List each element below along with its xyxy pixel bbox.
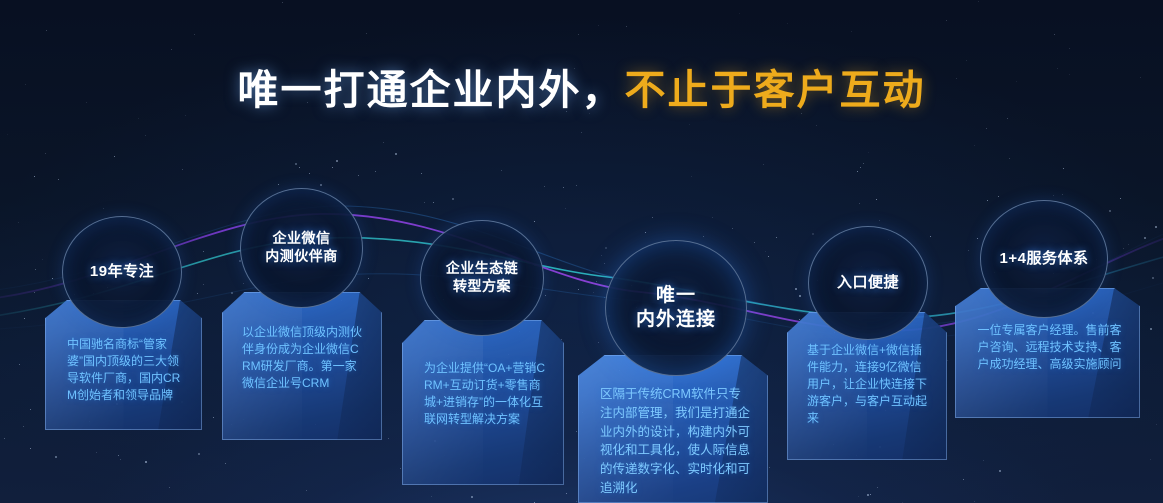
pedestal-text-service-system: 一位专属客户经理。售前客户咨询、远程技术支持、客户成功经理、高级实施顾问 — [973, 322, 1126, 373]
node-wecom-beta-partner[interactable]: 企业微信 内测伙伴商 — [240, 188, 363, 308]
node-label-line: 内测伙伴商 — [265, 248, 338, 266]
node-label-unique-internal-external: 唯一 内外连接 — [605, 240, 747, 376]
node-ring: 企业生态链 转型方案 — [420, 220, 544, 336]
node-service-system[interactable]: 1+4服务体系 — [980, 200, 1108, 318]
node-label-years-focus: 19年专注 — [62, 216, 182, 328]
node-label-line: 企业生态链 — [446, 260, 519, 278]
node-label-line: 1+4服务体系 — [1000, 249, 1089, 268]
pedestal-text-unique-internal-external: 区隔于传统CRM软件只专注内部管理，我们是打通企业内外的设计，构建内外可视化和工… — [600, 385, 750, 498]
node-label-line: 入口便捷 — [837, 273, 899, 292]
node-ecosystem-transform[interactable]: 企业生态链 转型方案 — [420, 220, 544, 336]
node-label-line: 转型方案 — [453, 278, 511, 296]
node-label-line: 19年专注 — [90, 262, 154, 281]
node-label-line: 企业微信 — [273, 230, 331, 248]
node-unique-internal-external[interactable]: 唯一 内外连接 — [605, 240, 747, 376]
node-ring: 唯一 内外连接 — [605, 240, 747, 376]
node-easy-entry[interactable]: 入口便捷 — [808, 226, 928, 340]
node-label-easy-entry: 入口便捷 — [808, 226, 928, 340]
node-label-line: 内外连接 — [636, 308, 716, 332]
page-title-white: 唯一打通企业内外， — [238, 67, 625, 113]
infographic-stage: 唯一打通企业内外，不止于客户互动 中国驰名商标“管家婆”国内顶级的三大领导软件厂… — [0, 0, 1163, 503]
node-ring: 企业微信 内测伙伴商 — [240, 188, 363, 308]
node-ring: 1+4服务体系 — [980, 200, 1108, 318]
node-years-focus[interactable]: 19年专注 — [62, 216, 182, 328]
node-label-ecosystem-transform: 企业生态链 转型方案 — [420, 220, 544, 336]
node-label-service-system: 1+4服务体系 — [980, 200, 1108, 318]
pedestal-text-ecosystem-transform: 为企业提供“OA+营销CRM+互动订货+零售商城+进销存”的一体化互联网转型解决… — [424, 360, 546, 428]
page-title: 唯一打通企业内外，不止于客户互动 — [0, 56, 1163, 116]
pedestal-ecosystem-transform: 为企业提供“OA+营销CRM+互动订货+零售商城+进销存”的一体化互联网转型解决… — [402, 320, 564, 485]
node-ring: 19年专注 — [62, 216, 182, 328]
node-ring: 入口便捷 — [808, 226, 928, 340]
node-label-wecom-beta-partner: 企业微信 内测伙伴商 — [240, 188, 363, 308]
page-title-gold: 不止于客户互动 — [625, 67, 926, 113]
node-label-line: 唯一 — [656, 284, 696, 308]
pedestal-wecom-beta-partner: 以企业微信顶级内测伙伴身份成为企业微信CRM研发厂商。第一家微信企业号CRM — [222, 292, 382, 440]
pedestal-text-easy-entry: 基于企业微信+微信插件能力，连接9亿微信用户，让企业快连接下游客户，与客户互动起… — [807, 342, 929, 427]
pedestal-text-years-focus: 中国驰名商标“管家婆”国内顶级的三大领导软件厂商，国内CRM创始者和领导品牌 — [67, 336, 186, 404]
pedestal-text-wecom-beta-partner: 以企业微信顶级内测伙伴身份成为企业微信CRM研发厂商。第一家微信企业号CRM — [242, 324, 364, 392]
